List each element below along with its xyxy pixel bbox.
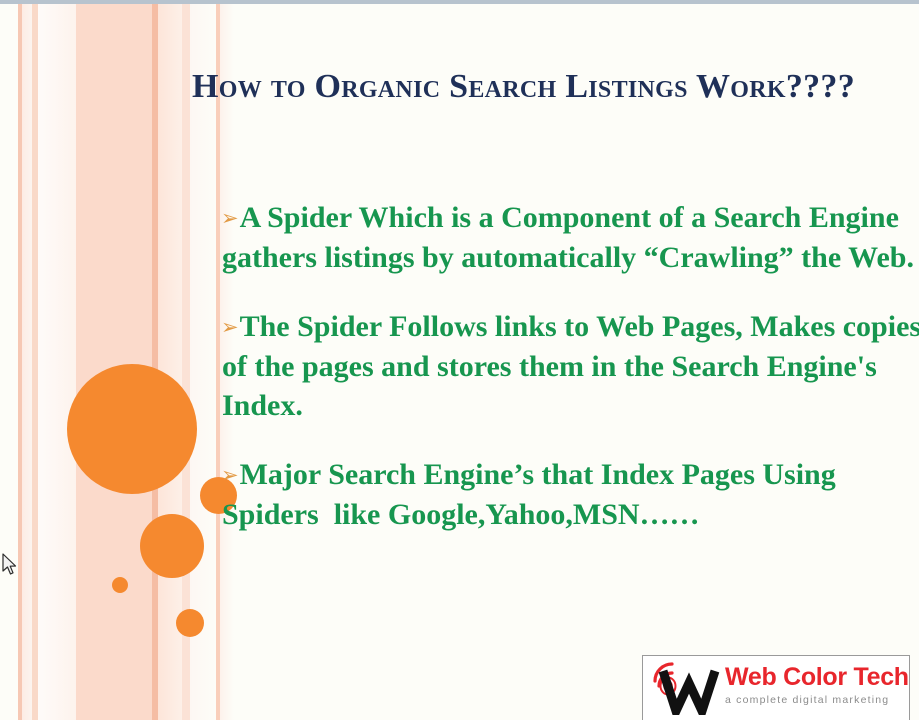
- window-chrome-bar: [0, 0, 919, 4]
- arrow-bullet-icon: ➢: [221, 206, 239, 230]
- mouse-cursor-icon: [2, 553, 18, 577]
- logo-name: Web Color Tech: [725, 663, 910, 691]
- presentation-slide: How to Organic Search Listings Work???? …: [0, 0, 919, 720]
- bullet-text: A Spider Which is a Component of a Searc…: [222, 201, 914, 274]
- slide-title: How to Organic Search Listings Work????: [192, 66, 892, 107]
- bullet-text: Major Search Engine’s that Index Pages U…: [222, 458, 843, 531]
- bullet-text: The Spider Follows links to Web Pages, M…: [222, 310, 919, 422]
- bullet-list: ➢A Spider Which is a Component of a Sear…: [222, 198, 919, 534]
- web-color-tech-w-icon: [649, 659, 727, 715]
- bullet-item: ➢A Spider Which is a Component of a Sear…: [222, 198, 919, 277]
- bullet-item: ➢The Spider Follows links to Web Pages, …: [222, 307, 919, 425]
- arrow-bullet-icon: ➢: [221, 463, 239, 487]
- slide-content: How to Organic Search Listings Work???? …: [0, 0, 919, 720]
- arrow-bullet-icon: ➢: [221, 315, 239, 339]
- bullet-item: ➢Major Search Engine’s that Index Pages …: [222, 455, 919, 534]
- logo-tagline: a complete digital marketing: [725, 693, 910, 707]
- company-logo: Web Color Tech a complete digital market…: [642, 655, 910, 720]
